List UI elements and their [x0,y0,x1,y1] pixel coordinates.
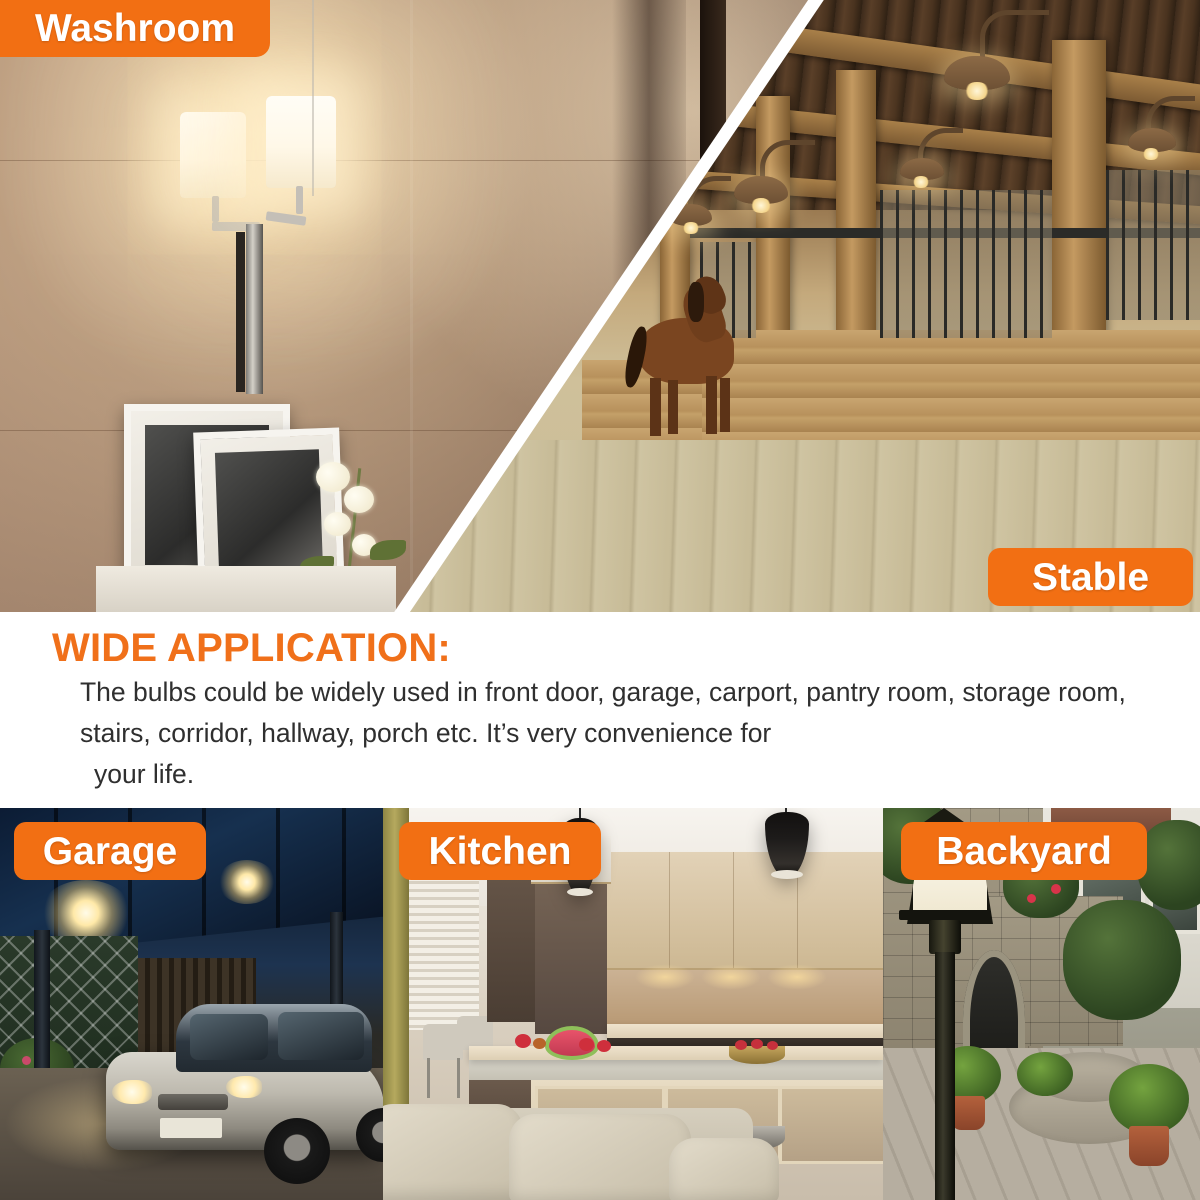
badge-garage: Garage [14,822,206,880]
license-plate [160,1118,222,1138]
product-feature-image: Washroom Stable WIDE APPLICATION: The bu… [0,0,1200,1200]
body-line-1: The bulbs could be widely used in front … [80,677,955,707]
badge-garage-label: Garage [43,832,177,871]
badge-kitchen: Kitchen [399,822,601,880]
backyard-photo: Backyard [883,808,1200,1200]
wide-application-section: WIDE APPLICATION: The bulbs could be wid… [0,612,1200,808]
body-line-3: your life. [80,754,1170,795]
bottom-photo-panel: Garage [0,808,1200,1200]
badge-backyard: Backyard [901,822,1147,880]
badge-stable-label: Stable [1032,558,1149,597]
badge-stable: Stable [988,548,1193,606]
garage-ceiling-light-2 [218,860,276,904]
section-heading: WIDE APPLICATION: [52,626,451,671]
badge-backyard-label: Backyard [936,832,1112,871]
badge-washroom-label: Washroom [35,9,235,48]
kitchen-photo: Kitchen [383,808,883,1200]
car-headlight-left [112,1080,152,1104]
badge-washroom: Washroom [0,0,270,57]
car-headlight-right [226,1076,262,1098]
section-body: The bulbs could be widely used in front … [80,672,1170,795]
badge-kitchen-label: Kitchen [428,832,571,871]
top-photo-panel: Washroom Stable [0,0,1200,612]
garage-photo: Garage [0,808,383,1200]
